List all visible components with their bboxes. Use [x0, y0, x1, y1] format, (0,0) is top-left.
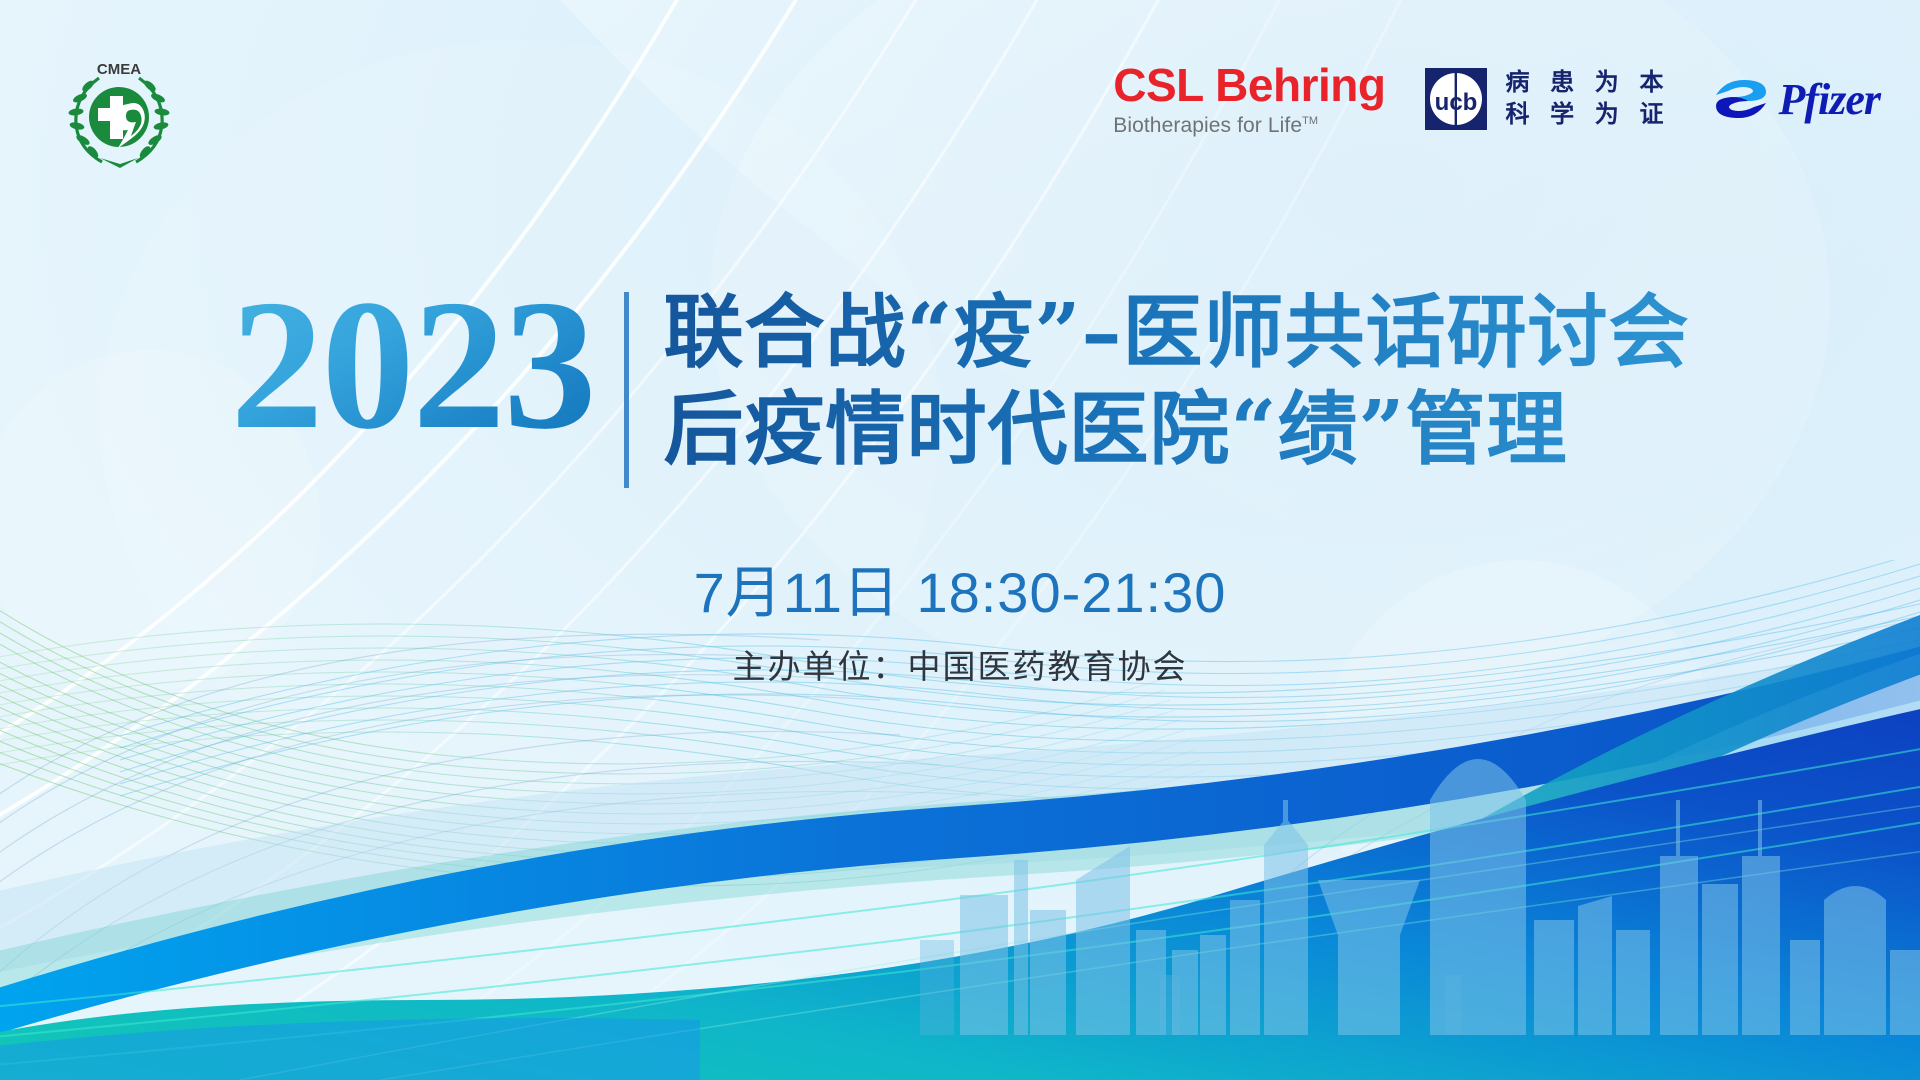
ucb-mark-icon: ucb — [1425, 68, 1487, 130]
pfizer-helix-icon — [1710, 73, 1772, 125]
title-block: 2023 联合战“疫”–医师共话研讨会 后疫情时代医院“绩”管理 — [0, 280, 1920, 488]
title-divider — [624, 292, 629, 488]
background-arcs — [0, 0, 1920, 1080]
ucb-mark-text: ucb — [1435, 89, 1478, 116]
ucb-slogan: 病 患 为 本 科 学 为 证 — [1505, 70, 1670, 129]
sponsor-logo-row: CSL Behring Biotherapies for LifeTM ucb … — [1113, 62, 1880, 136]
event-title-line-1: 联合战“疫”–医师共话研讨会 — [663, 286, 1689, 379]
csl-behring-tagline: Biotherapies for LifeTM — [1113, 115, 1318, 136]
ucb-slogan-line-1: 病 患 为 本 — [1505, 70, 1670, 97]
csl-tagline-text: Biotherapies for Life — [1113, 114, 1302, 137]
cmea-emblem-icon: CMEA — [58, 52, 180, 174]
pfizer-wordmark: Pfizer — [1778, 74, 1880, 125]
event-poster: CMEA — [0, 0, 1920, 1080]
pfizer-logo: Pfizer — [1710, 73, 1880, 125]
trademark-icon: TM — [1302, 115, 1318, 127]
cmea-abbr-text: CMEA — [97, 61, 141, 78]
csl-behring-wordmark: CSL Behring — [1113, 62, 1385, 108]
wave-artwork — [0, 0, 1920, 1080]
event-title-line-2: 后疫情时代医院“绩”管理 — [663, 383, 1689, 476]
ucb-slogan-line-2: 科 学 为 证 — [1505, 102, 1670, 129]
event-organizer: 主办单位：中国医药教育协会 — [0, 640, 1920, 688]
cmea-logo: CMEA — [58, 52, 180, 174]
event-title: 联合战“疫”–医师共话研讨会 后疫情时代医院“绩”管理 — [663, 280, 1689, 476]
city-skyline — [0, 0, 1920, 1080]
event-year: 2023 — [230, 284, 594, 448]
ucb-logo: ucb 病 患 为 本 科 学 为 证 — [1425, 68, 1670, 130]
wave-svg — [0, 0, 1920, 1080]
skyline-svg — [0, 0, 1920, 1080]
csl-behring-logo: CSL Behring Biotherapies for LifeTM — [1113, 62, 1385, 136]
background-decoration — [0, 0, 1920, 1080]
event-datetime: 7月11日 18:30-21:30 — [0, 548, 1920, 629]
